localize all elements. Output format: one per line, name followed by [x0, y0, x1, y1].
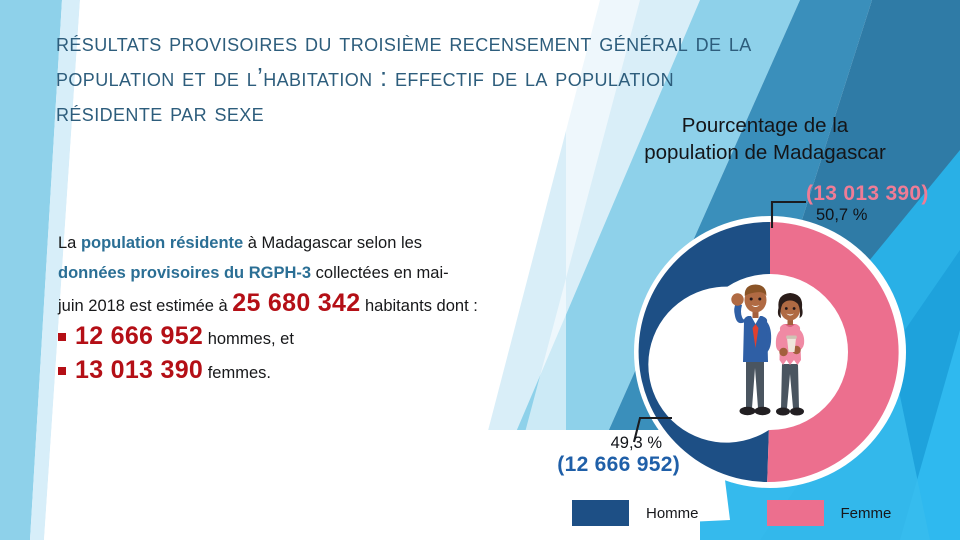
legend-swatch-homme: [572, 500, 629, 526]
title-line-1: Résultats provisoires du troisième Recen…: [56, 26, 876, 61]
body-highlight-rgph3: données provisoires du RGPH-3: [58, 264, 311, 282]
legend-item-femme[interactable]: Femme: [767, 500, 892, 526]
body-line-3: juin 2018 est estimée à 25 680 342 habit…: [58, 288, 558, 321]
body-line1-post: à Madagascar selon les: [243, 234, 422, 252]
bullet-square-icon: [58, 367, 66, 375]
bullet-men-count: 12 666 952: [75, 322, 203, 350]
legend-item-homme[interactable]: Homme: [572, 500, 699, 526]
body-line3-pre: juin 2018 est estimée à: [58, 297, 232, 315]
legend-label-homme: Homme: [646, 505, 699, 522]
callout-femme-count: (13 013 390): [806, 182, 929, 206]
legend-label-femme: Femme: [841, 505, 892, 522]
figure-woman-with-cup: [776, 293, 804, 416]
bullet-women-label: femmes.: [203, 364, 271, 382]
chart-legend: Homme Femme: [572, 500, 891, 526]
legend-swatch-femme: [767, 500, 824, 526]
man-and-woman-illustration: [712, 272, 830, 424]
callout-homme-count: (12 666 952): [520, 453, 680, 477]
bullet-women-count: 13 013 390: [75, 356, 203, 384]
callout-femme: (13 013 390) 50,7 %: [806, 182, 929, 225]
title-line-2: Population et de l’Habitation : Effectif…: [56, 61, 876, 96]
chart-title-line-1: Pourcentage de la: [600, 112, 930, 139]
body-line2-post: collectées en mai-: [311, 264, 449, 282]
body-highlight-population-residente: population résidente: [81, 234, 243, 252]
callout-femme-percent: 50,7 %: [816, 206, 929, 225]
list-item: 12 666 952 hommes, et: [58, 321, 558, 355]
list-item: 13 013 390 femmes.: [58, 355, 558, 389]
body-line-2: données provisoires du RGPH-3 collectées…: [58, 258, 558, 288]
body-line-1: La population résidente à Madagascar sel…: [58, 228, 558, 258]
body-line3-post: habitants dont :: [360, 297, 477, 315]
callout-homme: 49,3 % (12 666 952): [520, 434, 680, 477]
bullet-men-label: hommes, et: [203, 330, 294, 348]
callout-homme-percent: 49,3 %: [520, 434, 662, 453]
chart-title-line-2: population de Madagascar: [600, 139, 930, 166]
body-total-population: 25 680 342: [232, 289, 360, 317]
slide-canvas: Résultats provisoires du troisième Recen…: [0, 0, 960, 540]
chart-title: Pourcentage de la population de Madagasc…: [600, 112, 930, 166]
figure-man-waving: [731, 285, 771, 416]
bullet-square-icon: [58, 333, 66, 341]
body-text: La population résidente à Madagascar sel…: [58, 228, 558, 389]
body-line1-pre: La: [58, 234, 81, 252]
